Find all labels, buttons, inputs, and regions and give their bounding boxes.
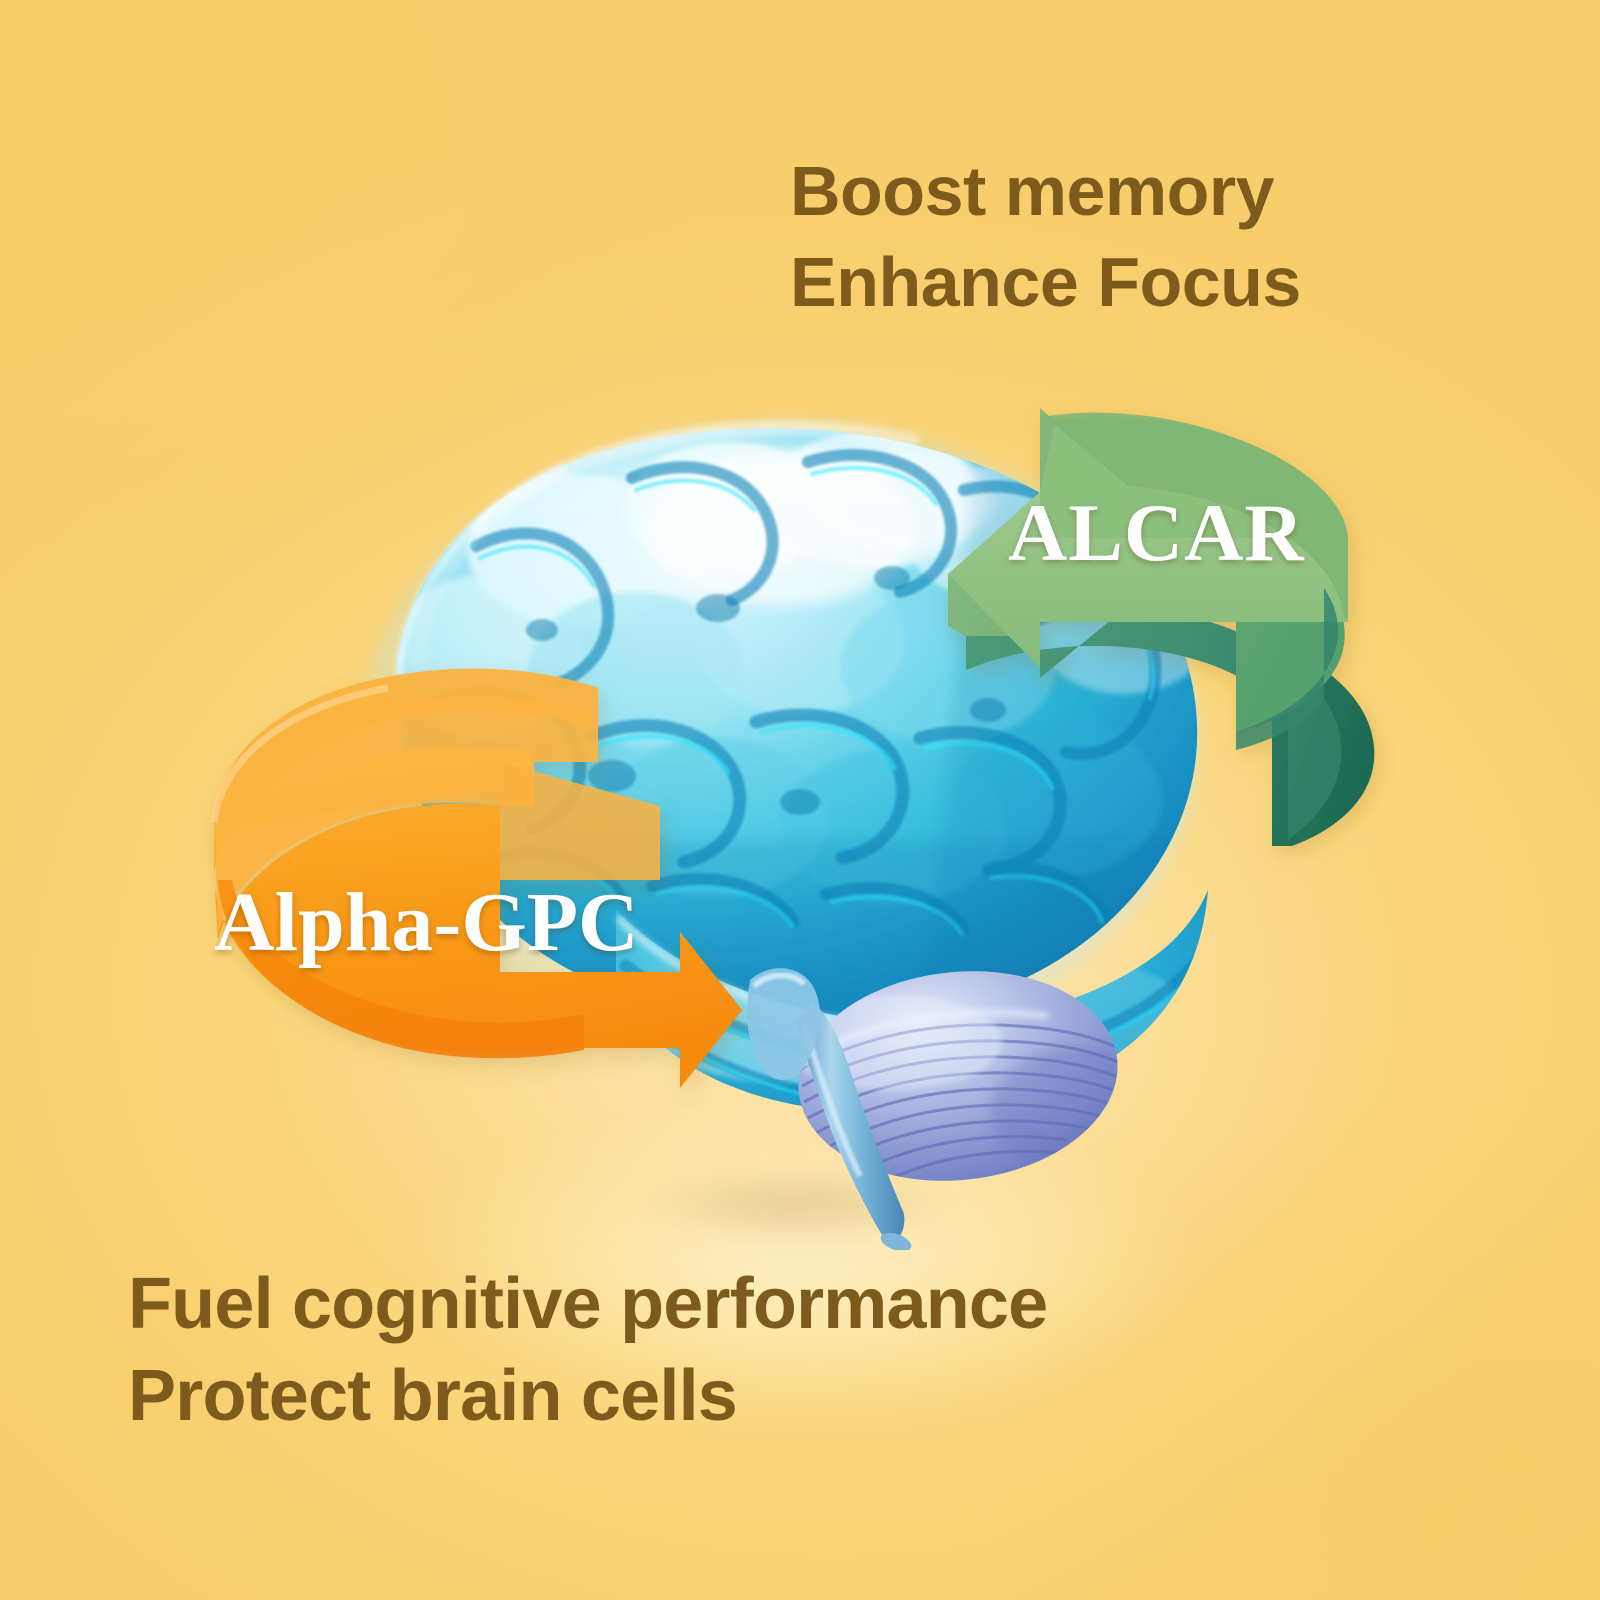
brain-svg — [280, 370, 1260, 1250]
poster-canvas: ALCAR Alpha-GPC Boost memory Enhance Foc… — [0, 0, 1600, 1600]
cerebrum — [280, 370, 1260, 1070]
top-heading-line-1: Boost memory — [790, 146, 1430, 237]
top-heading: Boost memory Enhance Focus — [790, 146, 1430, 328]
bottom-heading: Fuel cognitive performance Protect brain… — [128, 1258, 1248, 1442]
bottom-heading-line-1: Fuel cognitive performance — [128, 1258, 1248, 1350]
bottom-heading-line-2: Protect brain cells — [128, 1350, 1248, 1442]
top-heading-line-2: Enhance Focus — [790, 237, 1430, 328]
brain-illustration — [280, 370, 1260, 1250]
